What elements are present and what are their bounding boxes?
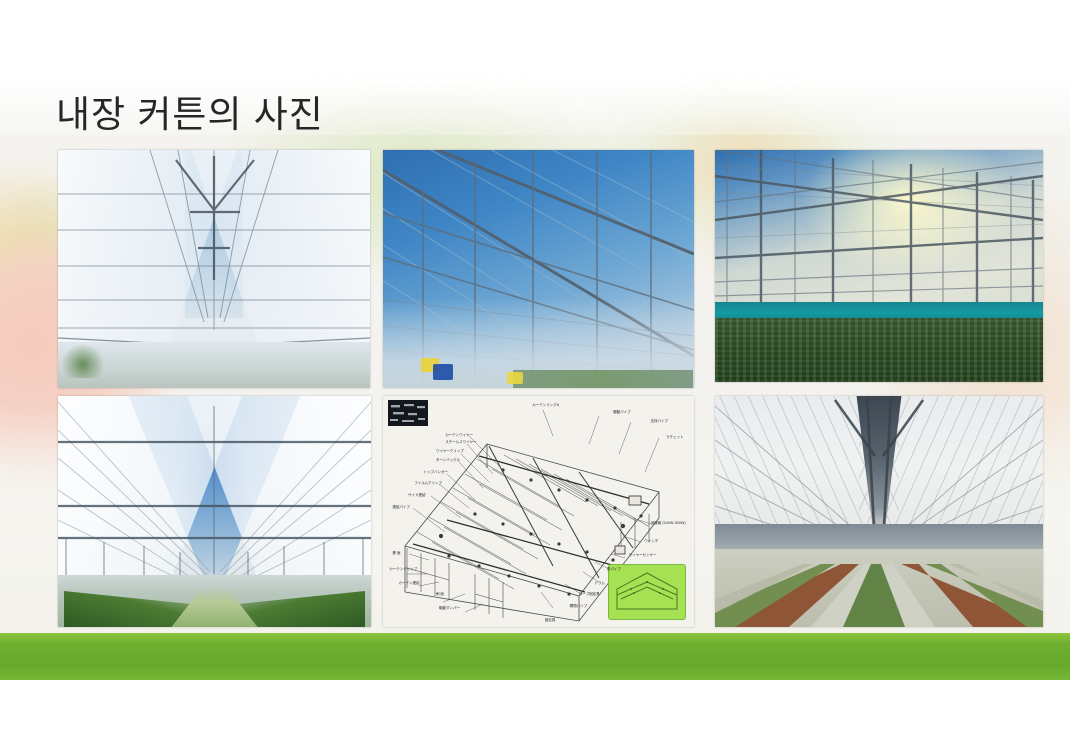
page-title: 내장 커튼의 사진 — [56, 92, 324, 138]
diagram-label: ラチェット — [666, 435, 683, 439]
diagram-label: ロープ固定具 — [579, 592, 600, 596]
photo-3-content — [715, 150, 1043, 382]
photo-2-content — [383, 150, 694, 388]
diagram-label-layer: カーテンリングA駆動パイプ支持パイプラチェットカーテンワイヤースチールスワイヤー… — [383, 396, 694, 627]
photo-4-content — [58, 396, 371, 627]
diagram-label: 減速機 (200W 300W) — [650, 521, 685, 525]
photo-5-content — [715, 396, 1043, 627]
photo-greenhouse-curtain-4[interactable] — [58, 396, 371, 627]
diagram-label: 角パイプ — [607, 567, 621, 571]
photo-greenhouse-roof-2[interactable] — [383, 150, 694, 388]
slide-top-margin — [0, 0, 1070, 75]
diagram-label: 駆動ダンパー — [439, 606, 460, 610]
diagram-label: ドラム — [594, 581, 604, 585]
photo-1-content — [58, 150, 370, 388]
photo-5-crop-rows — [715, 396, 1043, 627]
photo-2-marker — [507, 372, 523, 384]
diagram-label: 固定具 — [545, 618, 555, 622]
diagram-label: ワイヤーセンサー — [629, 553, 657, 557]
photo-greenhouse-shade-3[interactable] — [715, 150, 1043, 382]
diagram-curtain-system[interactable]: カーテンリングA駆動パイプ支持パイプラチェットカーテンワイヤースチールスワイヤー… — [383, 396, 694, 627]
photo-1-floor — [58, 342, 370, 388]
diagram-label: ターンバックル — [436, 458, 460, 462]
diagram-label: 支持パイプ — [650, 419, 667, 423]
diagram-label: ワイヤークリップ — [436, 449, 464, 453]
diagram-label: カーテン連結 — [399, 581, 420, 585]
footer-accent-bar — [0, 633, 1070, 680]
diagram-label: カーテンクリップ — [389, 567, 417, 571]
diagram-label: トップハンガー — [423, 470, 447, 474]
diagram-label: 側 面 — [436, 592, 444, 596]
photo-1-plants — [62, 344, 104, 378]
diagram-label: カーテンワイヤー — [445, 433, 473, 437]
diagram-label: フイルムクリップ — [414, 481, 442, 485]
photo-greenhouse-curtain-1[interactable] — [58, 150, 370, 388]
photo-3-crop-bed — [715, 318, 1043, 382]
diagram-label: 駆動パイプ — [613, 410, 630, 414]
slide-bottom-margin — [0, 680, 1070, 756]
diagram-label: サイド連結 — [408, 493, 425, 497]
presentation-slide: 내장 커튼의 사진 — [0, 0, 1070, 756]
diagram-label: 開閉パイプ — [570, 604, 587, 608]
photo-2-marker — [433, 364, 453, 380]
diagram-label: 連結パイプ — [392, 505, 409, 509]
diagram-label: ウインチ — [644, 539, 658, 543]
diagram-label: カーテンリングA — [532, 403, 559, 407]
photo-2-crops — [513, 370, 693, 388]
diagram-label: スチールスワイヤー — [445, 440, 476, 444]
photo-greenhouse-curtain-5[interactable] — [715, 396, 1043, 627]
diagram-label: 妻 面 — [392, 551, 400, 555]
